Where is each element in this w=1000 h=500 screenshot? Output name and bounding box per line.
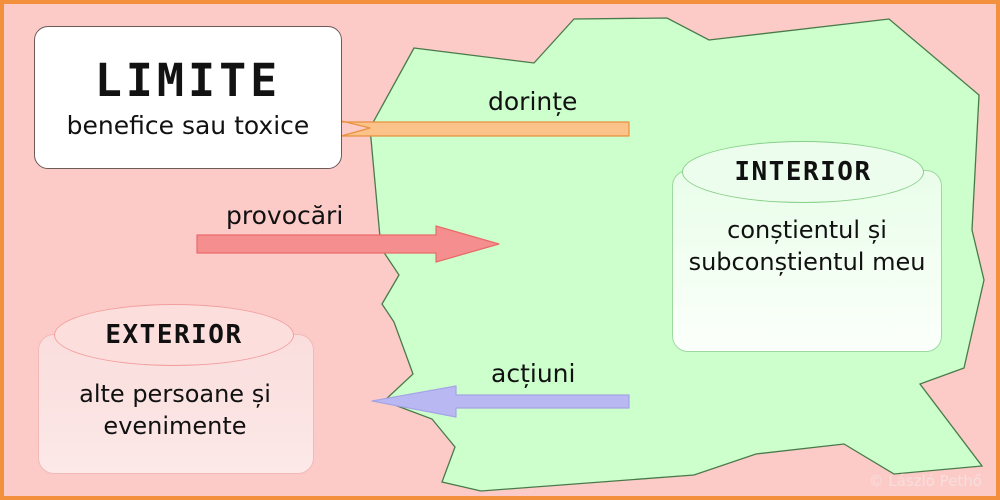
arrow-label-actiuni: acțiuni xyxy=(491,359,575,388)
arrow-label-provocari: provocări xyxy=(226,201,343,230)
interior-body-text: conștientul și subconștientul meu xyxy=(676,214,938,278)
exterior-body-text: alte persoane și evenimente xyxy=(42,378,308,442)
interior-label-ellipse: INTERIOR xyxy=(682,141,924,203)
copyright-credit: © László Pethő xyxy=(869,472,982,490)
arrow-provocari xyxy=(197,226,499,262)
exterior-label-ellipse: EXTERIOR xyxy=(54,304,294,366)
diagram-canvas: LIMITE benefice sau toxice INTERIOR conș… xyxy=(0,0,1000,500)
exterior-label-text: EXTERIOR xyxy=(105,320,242,350)
limite-title: LIMITE xyxy=(95,58,282,103)
limite-subtitle: benefice sau toxice xyxy=(67,113,310,138)
limite-card: LIMITE benefice sau toxice xyxy=(34,26,342,169)
arrow-label-dorinte: dorințe xyxy=(488,87,577,116)
interior-label-text: INTERIOR xyxy=(734,157,871,187)
